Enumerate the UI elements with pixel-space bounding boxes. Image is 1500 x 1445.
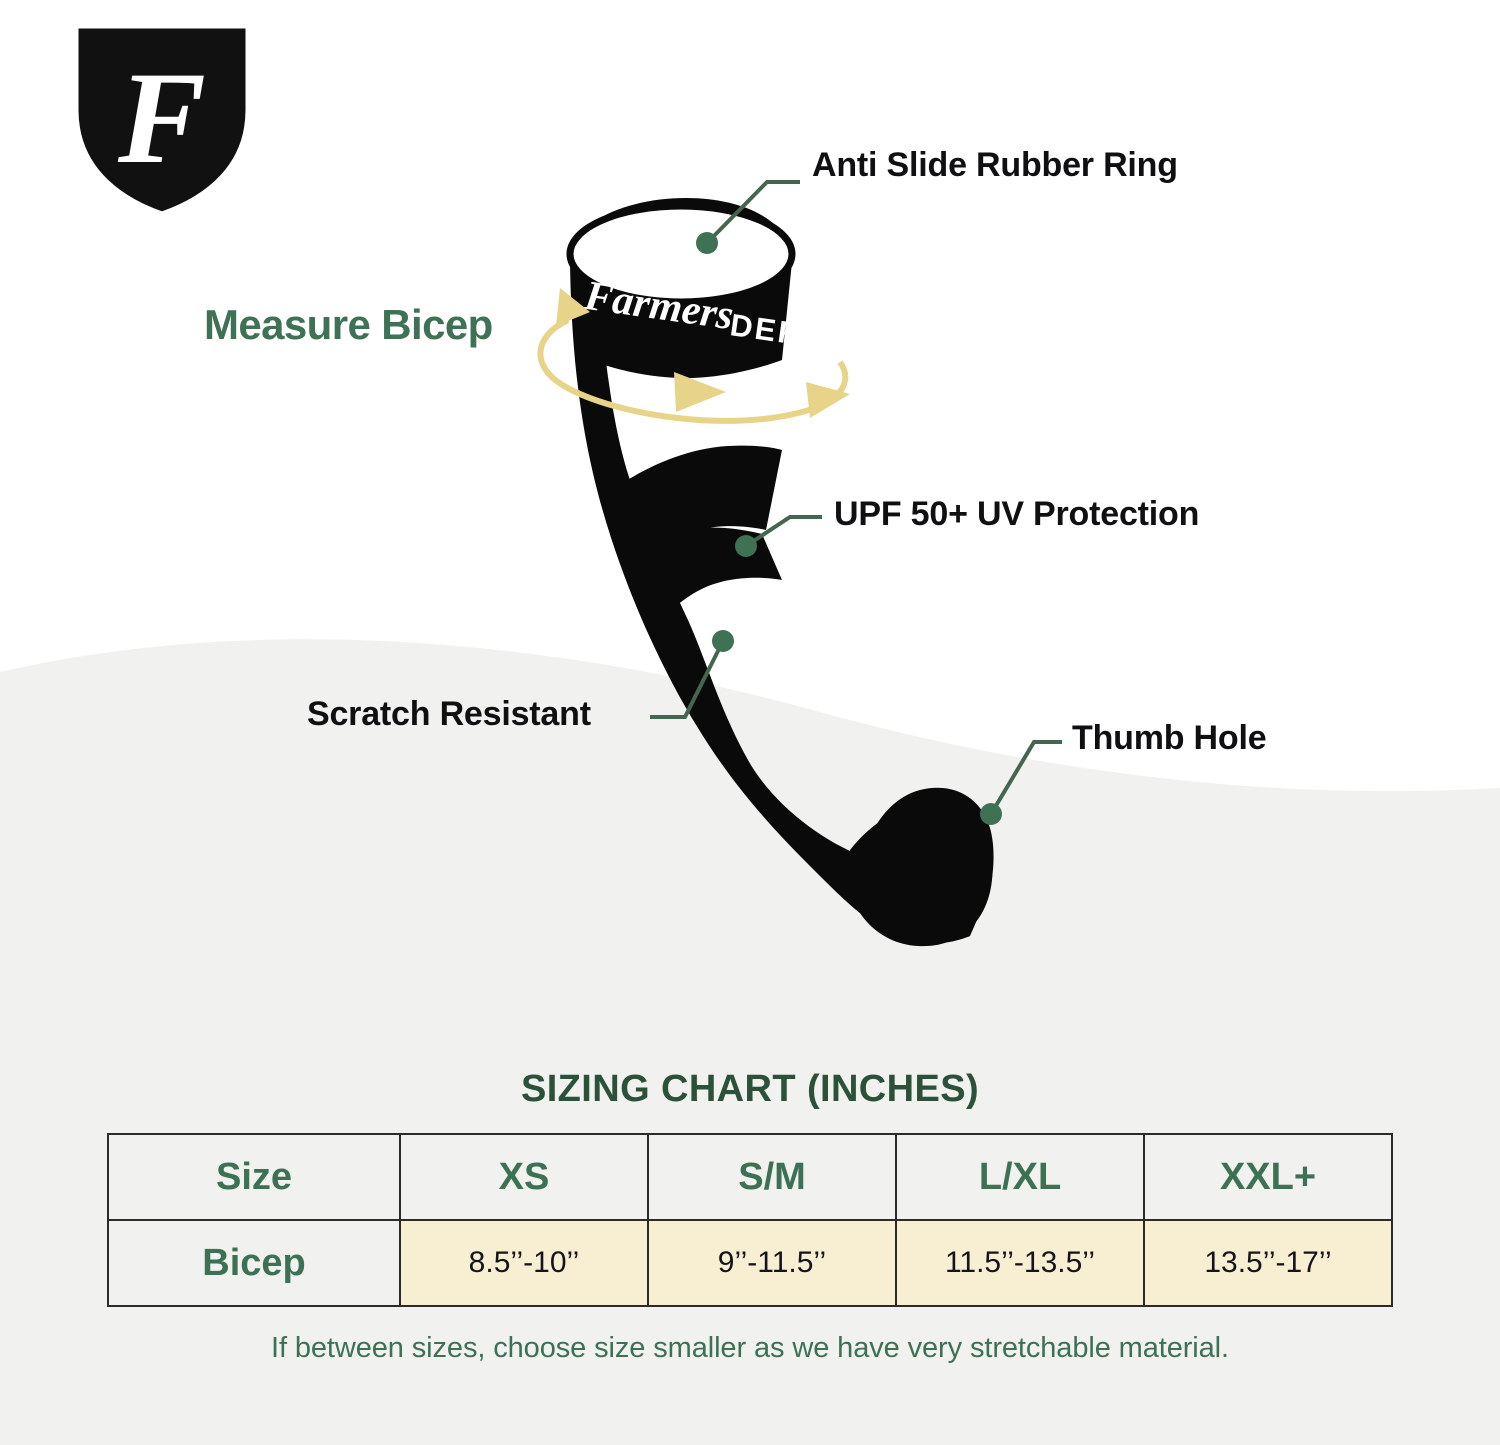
sizing-chart-section: SIZING CHART (INCHES) Size XS S/M L/XL X… — [0, 1068, 1500, 1365]
cell-bicep-lxl: 11.5’’-13.5’’ — [896, 1220, 1144, 1306]
sizing-chart-table: Size XS S/M L/XL XXL+ Bicep 8.5’’-10’’ 9… — [107, 1133, 1393, 1307]
table-row: Bicep 8.5’’-10’’ 9’’-11.5’’ 11.5’’-13.5’… — [108, 1220, 1392, 1306]
row-header-bicep: Bicep — [108, 1220, 400, 1306]
callout-label-measure-bicep: Measure Bicep — [204, 304, 493, 346]
column-header-size: Size — [108, 1134, 400, 1220]
cell-bicep-xs: 8.5’’-10’’ — [400, 1220, 648, 1306]
column-header-xxl: XXL+ — [1144, 1134, 1392, 1220]
infographic-page: F Farmers DEFENSE — [0, 0, 1500, 1445]
column-header-lxl: L/XL — [896, 1134, 1144, 1220]
callout-label-thumb-hole: Thumb Hole — [1072, 721, 1266, 755]
thumb-hole-area — [850, 804, 992, 946]
column-header-xs: XS — [400, 1134, 648, 1220]
measure-arrowhead-mid — [674, 372, 726, 412]
sizing-chart-note: If between sizes, choose size smaller as… — [0, 1332, 1500, 1365]
callout-label-upf-uv-protection: UPF 50+ UV Protection — [834, 497, 1199, 531]
cell-bicep-sm: 9’’-11.5’’ — [648, 1220, 896, 1306]
shield-logo-icon: F — [62, 18, 262, 218]
cell-bicep-xxl: 13.5’’-17’’ — [1144, 1220, 1392, 1306]
callout-label-anti-slide-rubber-ring: Anti Slide Rubber Ring — [812, 148, 1178, 182]
logo-letter: F — [117, 44, 206, 191]
callout-label-scratch-resistant: Scratch Resistant — [307, 697, 591, 731]
column-header-sm: S/M — [648, 1134, 896, 1220]
sizing-chart-title: SIZING CHART (INCHES) — [0, 1068, 1500, 1111]
table-header-row: Size XS S/M L/XL XXL+ — [108, 1134, 1392, 1220]
arm-sleeve-illustration: Farmers DEFENSE — [520, 150, 1080, 980]
